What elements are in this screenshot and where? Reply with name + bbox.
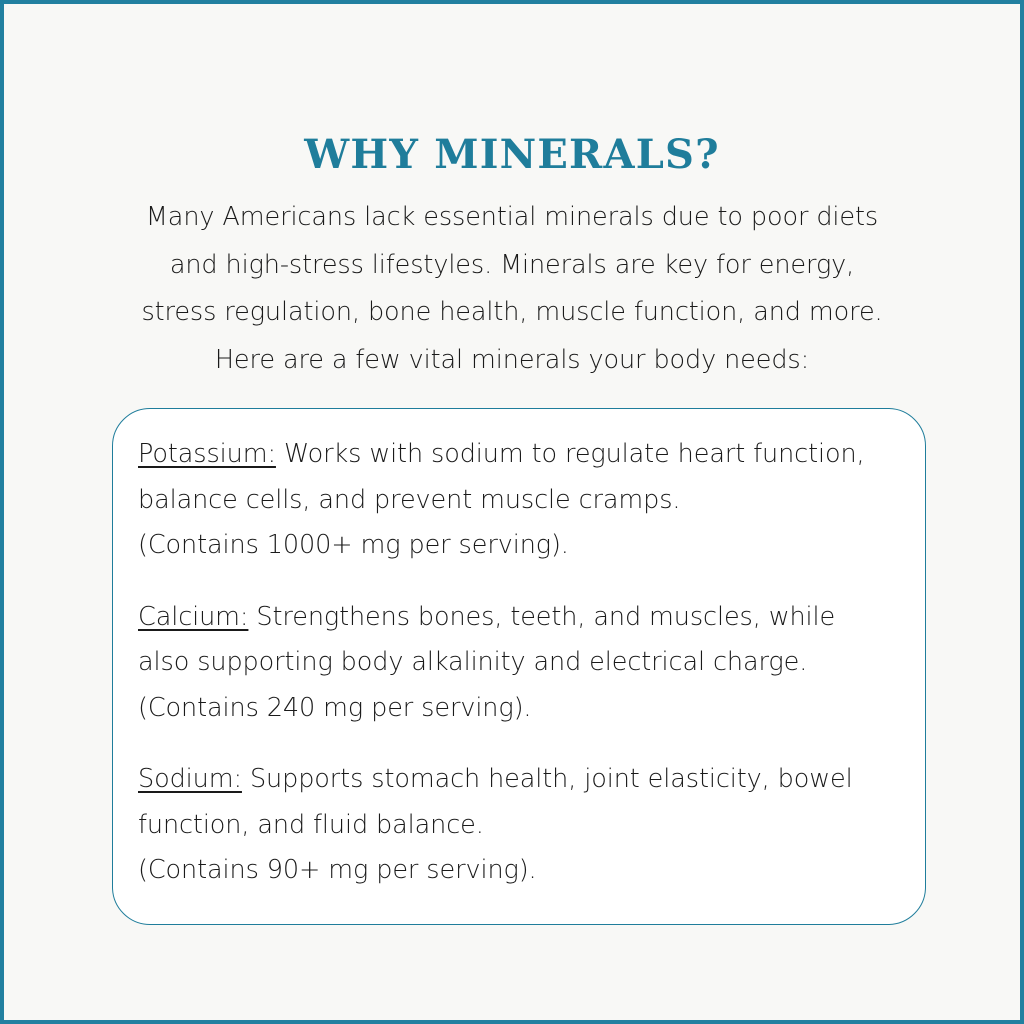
mineral-description-line: Sodium: Supports stomach health, joint e… bbox=[138, 757, 905, 803]
intro-line-3: stress regulation, bone health, muscle f… bbox=[66, 289, 958, 337]
minerals-card: Potassium: Works with sodium to regulate… bbox=[112, 408, 926, 925]
mineral-item-potassium: Potassium: Works with sodium to regulate… bbox=[138, 432, 905, 569]
mineral-description-line: Calcium: Strengthens bones, teeth, and m… bbox=[138, 595, 905, 641]
mineral-label-sodium: Sodium: bbox=[138, 764, 242, 794]
infographic-page: WHY MINERALS? Many Americans lack essent… bbox=[0, 0, 1024, 1024]
intro-line-4: Here are a few vital minerals your body … bbox=[66, 337, 958, 385]
mineral-line-2: function, and fluid balance. bbox=[138, 803, 905, 849]
mineral-label-calcium: Calcium: bbox=[138, 602, 248, 632]
intro-line-1: Many Americans lack essential minerals d… bbox=[66, 194, 958, 242]
minerals-list: Potassium: Works with sodium to regulate… bbox=[138, 432, 905, 894]
intro-paragraph: Many Americans lack essential minerals d… bbox=[66, 194, 958, 384]
mineral-line-1-rest: Strengthens bones, teeth, and muscles, w… bbox=[248, 602, 835, 632]
mineral-line-2: also supporting body alkalinity and elec… bbox=[138, 640, 905, 686]
mineral-line-2: balance cells, and prevent muscle cramps… bbox=[138, 478, 905, 524]
mineral-label-potassium: Potassium: bbox=[138, 439, 276, 469]
mineral-line-1-rest: Supports stomach health, joint elasticit… bbox=[242, 764, 853, 794]
mineral-serving-note: (Contains 240 mg per serving). bbox=[138, 686, 905, 732]
page-title: WHY MINERALS? bbox=[4, 129, 1020, 181]
mineral-description-line: Potassium: Works with sodium to regulate… bbox=[138, 432, 905, 478]
mineral-item-calcium: Calcium: Strengthens bones, teeth, and m… bbox=[138, 595, 905, 732]
mineral-serving-note: (Contains 1000+ mg per serving). bbox=[138, 523, 905, 569]
intro-line-2: and high-stress lifestyles. Minerals are… bbox=[66, 242, 958, 290]
mineral-line-1-rest: Works with sodium to regulate heart func… bbox=[276, 439, 865, 469]
mineral-item-sodium: Sodium: Supports stomach health, joint e… bbox=[138, 757, 905, 894]
mineral-serving-note: (Contains 90+ mg per serving). bbox=[138, 848, 905, 894]
